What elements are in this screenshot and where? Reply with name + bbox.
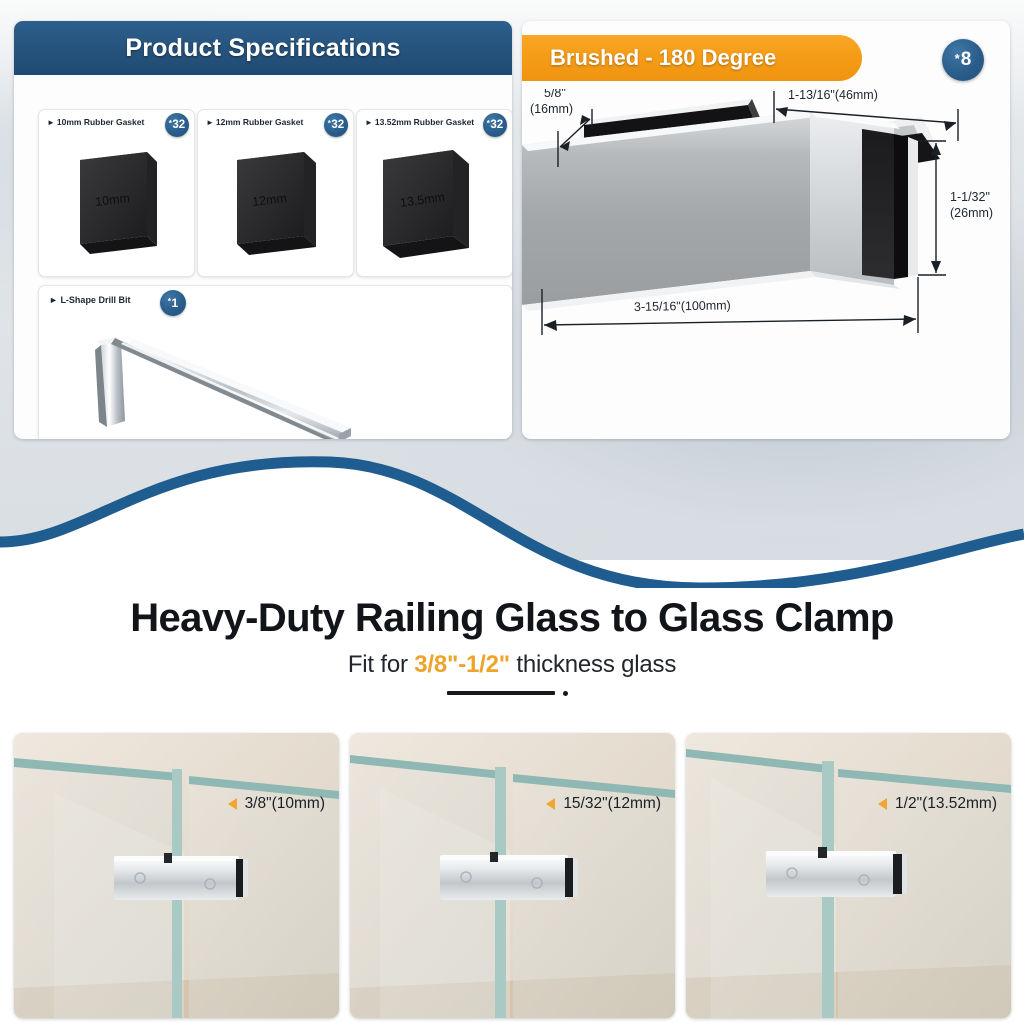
gasket-image-12mm: 12mm (198, 136, 353, 274)
asterisk-icon: * (955, 51, 960, 66)
triangle-right-icon: ► (47, 118, 55, 127)
drill-bit-card: ► L-Shape Drill Bit *1 (38, 285, 512, 439)
quantity-badge: *32 (324, 113, 348, 137)
quantity-badge: *32 (165, 113, 189, 137)
triangle-left-icon (878, 798, 887, 810)
photo-label-text: 1/2"(13.52mm) (895, 795, 997, 813)
application-photo-12mm: 15/32"(12mm) (350, 733, 675, 1018)
brushed-variant-tab: Brushed - 180 Degree (522, 35, 862, 81)
gasket-card-12mm: ►12mm Rubber Gasket *32 12mm (197, 109, 354, 277)
title-block: Heavy-Duty Railing Glass to Glass Clamp … (0, 592, 1024, 698)
product-specifications-panel: Product Specifications ►10mm Rubber Gask… (14, 21, 512, 439)
l-shape-drill-bit-image (39, 308, 512, 439)
subtitle-highlight: 3/8"-1/2" (414, 651, 510, 678)
triangle-right-icon: ► (49, 295, 58, 305)
dim-height-line1: 1-1/32" (950, 190, 990, 204)
photo-label-text: 15/32"(12mm) (563, 795, 661, 813)
gasket-label: ►13.52mm Rubber Gasket (365, 117, 474, 127)
brushed-180-degree-panel: Brushed - 180 Degree *8 (522, 21, 1010, 439)
triangle-left-icon (546, 798, 555, 810)
drill-bit-label: ► L-Shape Drill Bit (49, 295, 130, 305)
asterisk-icon: * (487, 119, 490, 128)
dim-thickness-line2: (16mm) (530, 102, 573, 116)
page-title: Product Specifications (125, 34, 400, 63)
subtitle-suffix: thickness glass (510, 651, 676, 678)
product-dimension-diagram: 5/8" (16mm) 1-13/16"(46mm) 1-1/32" (26mm… (522, 89, 1010, 439)
asterisk-icon: * (169, 119, 172, 128)
gasket-image-10mm: 10mm (39, 136, 194, 274)
asterisk-icon: * (328, 119, 331, 128)
photo-label-13-52mm: 1/2"(13.52mm) (878, 795, 997, 813)
triangle-right-icon: ► (365, 118, 373, 127)
subtitle: Fit for 3/8"-1/2" thickness glass (0, 651, 1024, 679)
photo-scene (350, 733, 675, 1018)
dim-depth: 1-13/16"(46mm) (788, 89, 878, 102)
subtitle-prefix: Fit for (348, 651, 414, 678)
photo-label-text: 3/8"(10mm) (245, 795, 325, 813)
application-photo-13-52mm: 1/2"(13.52mm) (686, 733, 1011, 1018)
photo-scene (14, 733, 339, 1018)
specifications-header: Product Specifications (14, 21, 512, 75)
quantity-badge: *32 (483, 113, 507, 137)
application-photo-10mm: 3/8"(10mm) (14, 733, 339, 1018)
gasket-card-13-52mm: ►13.52mm Rubber Gasket *32 13.5mm (356, 109, 512, 277)
photo-label-10mm: 3/8"(10mm) (228, 795, 325, 813)
gasket-label: ►12mm Rubber Gasket (206, 117, 303, 127)
triangle-left-icon (228, 798, 237, 810)
brushed-tab-label: Brushed - 180 Degree (550, 45, 776, 71)
dim-height-line2: (26mm) (950, 206, 993, 220)
gasket-label: ►10mm Rubber Gasket (47, 117, 144, 127)
triangle-right-icon: ► (206, 118, 214, 127)
wave-divider (0, 438, 1024, 588)
quantity-badge-8: *8 (942, 39, 984, 81)
gasket-image-13-52mm: 13.5mm (357, 136, 512, 274)
photo-label-12mm: 15/32"(12mm) (546, 795, 661, 813)
rule-bar (447, 691, 555, 695)
main-heading: Heavy-Duty Railing Glass to Glass Clamp (0, 592, 1024, 644)
title-underline-rule (447, 688, 577, 698)
dim-thickness-line1: 5/8" (544, 89, 566, 100)
dim-width: 3-15/16"(100mm) (634, 298, 731, 314)
rule-dot (563, 691, 568, 696)
gasket-card-10mm: ►10mm Rubber Gasket *32 10mm (38, 109, 195, 277)
asterisk-icon: * (168, 297, 171, 306)
photo-scene (686, 733, 1011, 1018)
